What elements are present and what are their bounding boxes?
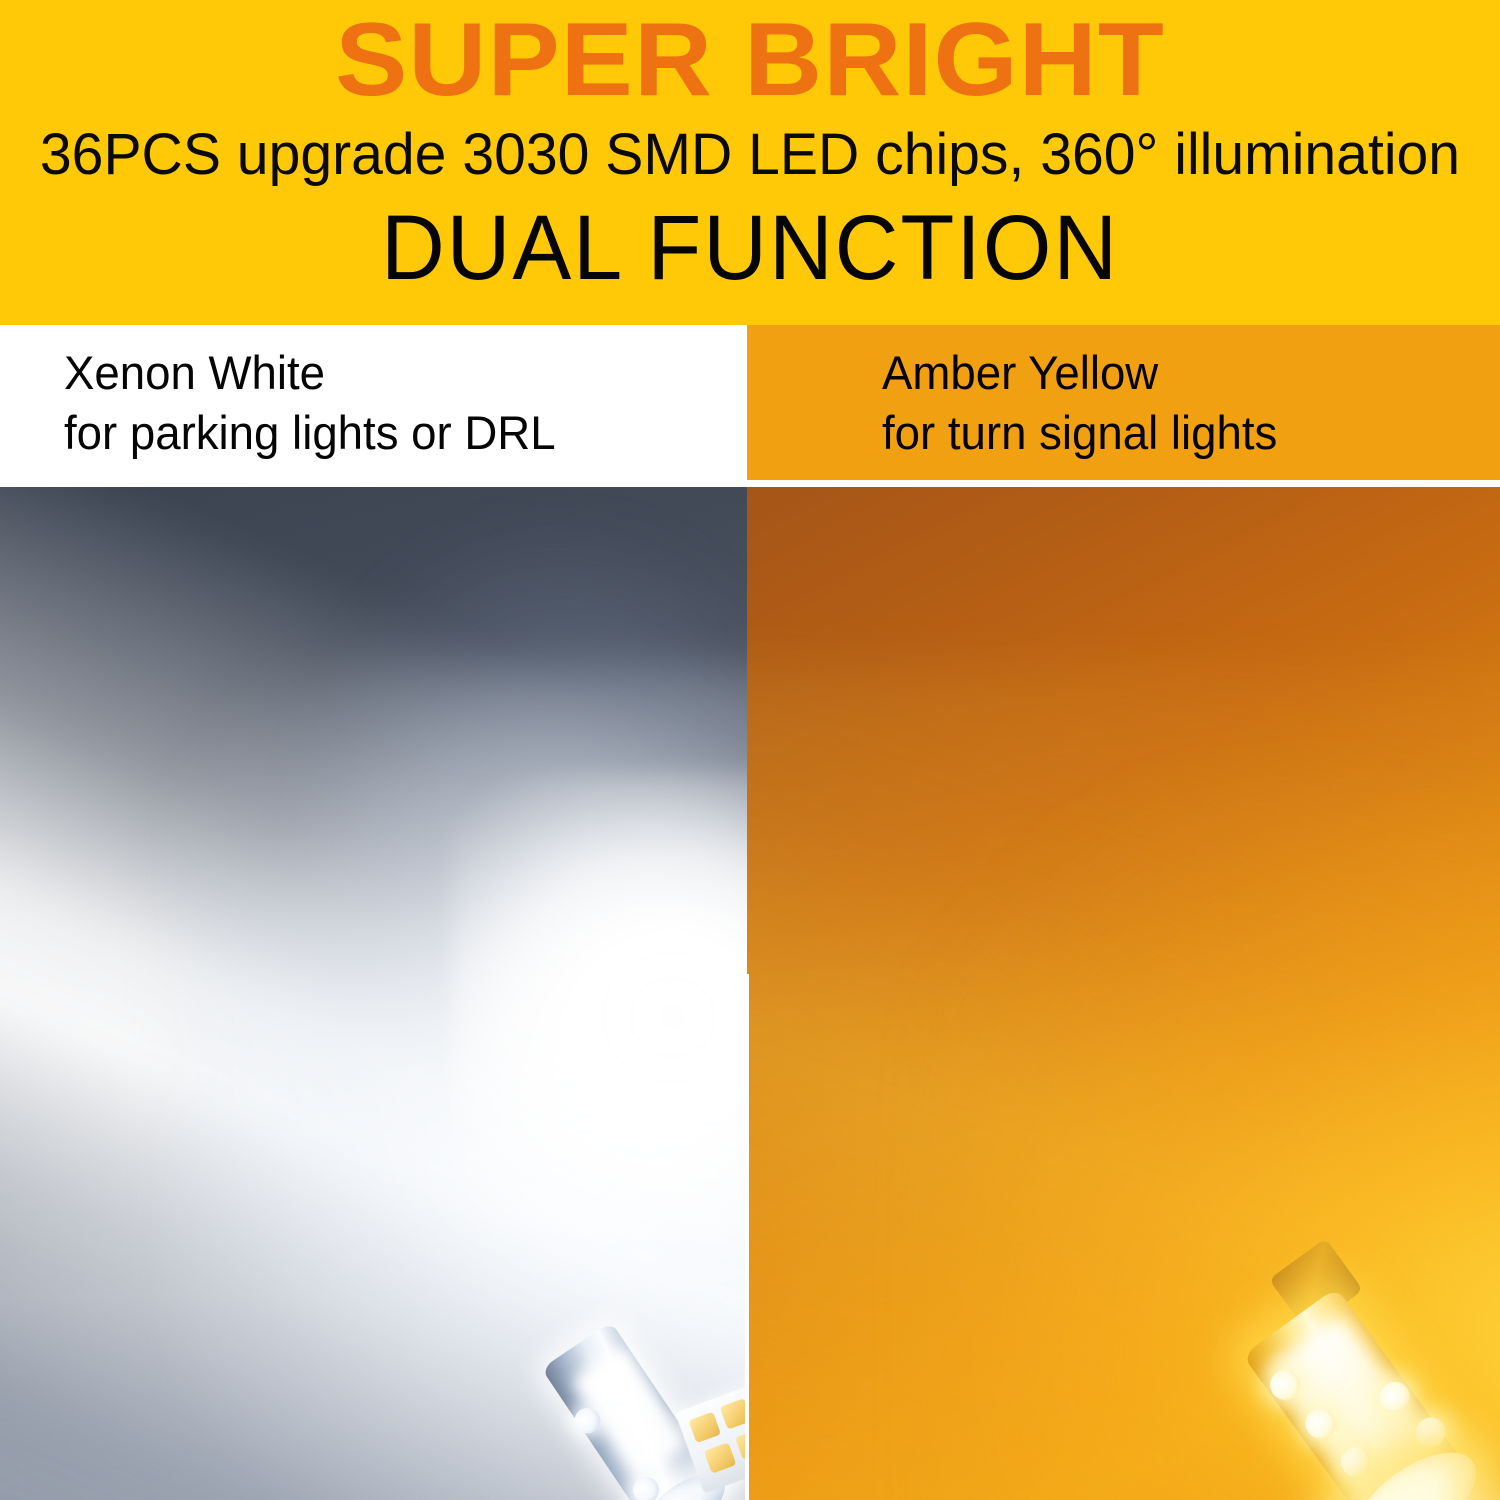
comparison-photos	[0, 487, 1500, 1500]
subheadline-specs: 36PCS upgrade 3030 SMD LED chips, 360° i…	[11, 122, 1489, 188]
header-banner: SUPER BRIGHT 36PCS upgrade 3030 SMD LED …	[0, 0, 1500, 325]
label-band: Xenon White for parking lights or DRL Am…	[0, 325, 1500, 487]
label-amber-yellow-subtitle: for turn signal lights	[882, 403, 1277, 463]
product-infographic: SUPER BRIGHT 36PCS upgrade 3030 SMD LED …	[0, 0, 1500, 1500]
label-panel-amber-yellow: Amber Yellow for turn signal lights	[747, 325, 1500, 480]
label-panel-xenon-white: Xenon White for parking lights or DRL	[0, 325, 747, 487]
photo-xenon-white	[0, 487, 747, 1500]
label-xenon-white-subtitle: for parking lights or DRL	[64, 403, 556, 463]
photo-divider	[745, 974, 749, 1500]
band-divider-gap	[747, 480, 1500, 487]
smd-chip	[688, 1412, 721, 1443]
label-xenon-white-title: Xenon White	[64, 343, 325, 403]
photo-white-hotspot	[452, 773, 747, 1243]
headline-dual-function: DUAL FUNCTION	[30, 196, 1470, 300]
smd-chip	[704, 1442, 737, 1473]
smd-chip	[720, 1398, 747, 1429]
photo-amber-yellow	[747, 487, 1500, 1500]
headline-super-bright: SUPER BRIGHT	[0, 4, 1500, 116]
label-amber-yellow-title: Amber Yellow	[882, 343, 1158, 403]
